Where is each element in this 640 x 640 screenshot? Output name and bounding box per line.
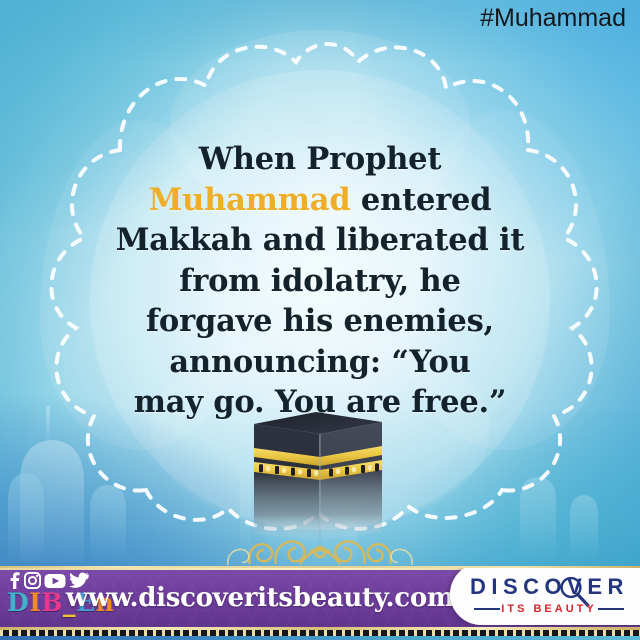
bottom-blue-strip (0, 636, 640, 640)
quote-text: When Prophet Muhammad entered Makkah and… (105, 139, 535, 423)
poster-canvas: #Muhammad When Prophet Muhammad entered … (0, 0, 640, 640)
kaaba-illustration (230, 408, 410, 558)
quote-line-3: Makkah and liberated it (116, 222, 524, 258)
discover-tagline: ITS BEAUTY (474, 603, 624, 615)
quote-line-2-rest: entered (351, 182, 492, 218)
quote-line-4: from idolatry, he (179, 263, 460, 299)
footer-banner: DIB_En www.discoveritsbeauty.com DISCOVE… (0, 568, 640, 627)
hashtag-label: #Muhammad (480, 4, 626, 33)
discover-wordmark: DISCOVER (470, 574, 629, 600)
quote-highlight-muhammad: Muhammad (149, 182, 351, 218)
quote-line-6: announcing: “You (169, 344, 470, 380)
discover-logo-badge[interactable]: DISCOVER ITS BEAUTY (450, 568, 640, 625)
quote-line-1: When Prophet (199, 141, 442, 177)
quote-line-5: forgave his enemies, (146, 303, 494, 339)
